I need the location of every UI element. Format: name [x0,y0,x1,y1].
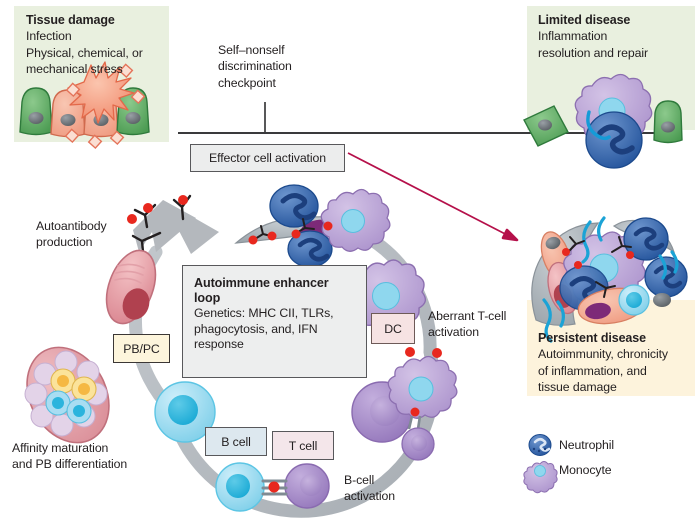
b-cell-activation-label: B-cell activation [344,472,434,505]
limited-disease-illustration [524,75,682,169]
autoantibody-line-1: Autoantibody [36,219,107,233]
aberrant-t-cell-label: Aberrant T-cell activation [428,308,538,341]
enhancer-title-line-2: loop [194,291,355,306]
persistent-disease-line-2: of inflammation, and [538,364,647,378]
dc-label: DC [384,322,402,336]
aberrant-line-1: Aberrant T-cell [428,309,506,323]
legend: Neutrophil Monocyte [527,432,687,482]
limited-disease-line-1: Inflammation [538,29,607,43]
germinal-centre-icon [11,333,125,457]
affinity-maturation-label: Affinity maturation and PB differentiati… [12,440,187,473]
enhancer-body-line-3: response [194,337,355,352]
affinity-line-2: and PB differentiation [12,457,127,471]
autoantibody-production-label: Autoantibody production [36,218,146,251]
monocyte-icon [527,458,555,482]
enhancer-body-line-1: Genetics: MHC CII, TLRs, [194,306,355,321]
pb-pc-label: PB/PC [123,342,159,356]
t-cell-box[interactable]: T cell [272,431,334,460]
tissue-damage-line-1: Infection [26,29,72,43]
limited-disease-heading: Limited disease [538,13,630,27]
enhancer-title-line-1: Autoimmune enhancer [194,276,355,291]
persistent-disease-heading: Persistent disease [538,331,646,345]
bcell-activation-line-2: activation [344,489,395,503]
autoantibody-line-2: production [36,235,92,249]
checkpoint-text: Self–nonself discrimination checkpoint [218,42,358,91]
tissue-damage-heading: Tissue damage [26,13,115,27]
b-cell-label: B cell [221,435,250,449]
legend-item-monocyte: Monocyte [527,457,687,482]
effector-cell-cluster [236,185,390,267]
figure-canvas: Tissue damage Infection Physical, chemic… [0,0,695,520]
effector-cell-activation-label: Effector cell activation [209,151,326,165]
b-cell-box[interactable]: B cell [205,427,267,456]
tissue-damage-line-2: Physical, chemical, or [26,46,143,60]
pb-pc-box[interactable]: PB/PC [113,334,170,363]
persistent-disease-line-3: tissue damage [538,380,617,394]
persistent-disease-illustration [532,218,687,341]
neutrophil-icon [527,433,555,457]
tissue-damage-text: Tissue damage Infection Physical, chemic… [26,12,166,78]
legend-label-neutrophil: Neutrophil [559,438,614,452]
persistent-disease-text: Persistent disease Autoimmunity, chronic… [538,330,695,396]
aberrant-line-2: activation [428,325,479,339]
limited-disease-line-2: resolution and repair [538,46,648,60]
affinity-line-1: Affinity maturation [12,441,108,455]
checkpoint-line-3: checkpoint [218,76,276,90]
legend-item-neutrophil: Neutrophil [527,432,687,457]
autoimmune-enhancer-loop-box: Autoimmune enhancer loop Genetics: MHC C… [182,265,367,378]
bcell-activation-line-1: B-cell [344,473,374,487]
t-cell-label: T cell [289,439,318,453]
dc-box[interactable]: DC [371,313,415,344]
effector-cell-activation-box[interactable]: Effector cell activation [190,144,345,172]
enhancer-body-line-2: phagocytosis, and, IFN [194,322,355,337]
limited-disease-text: Limited disease Inflammation resolution … [538,12,693,61]
persistent-disease-line-1: Autoimmunity, chronicity [538,347,668,361]
checkpoint-line-2: discrimination [218,59,292,73]
tissue-damage-line-3: mechanical stress [26,62,123,76]
legend-label-monocyte: Monocyte [559,463,612,477]
checkpoint-line-1: Self–nonself [218,43,284,57]
aberrant-t-cell-activation-icon [388,347,457,460]
